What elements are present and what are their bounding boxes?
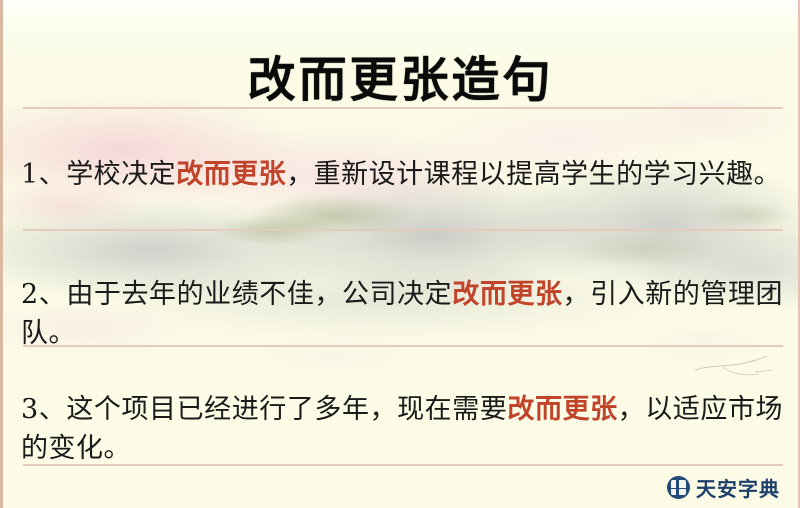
divider-rule-top bbox=[23, 107, 783, 109]
dictionary-example-page: 改而更张造句 1、学校决定改而更张，重新设计课程以提高学生的学习兴趣。 2、由于… bbox=[0, 0, 800, 508]
keyword-highlight: 改而更张 bbox=[452, 279, 562, 310]
sentence-index: 1、 bbox=[21, 159, 66, 190]
example-sentence-2: 2、由于去年的业绩不佳，公司决定改而更张，引入新的管理团队。 bbox=[21, 275, 783, 353]
sentence-text-after: ，重新设计课程以提高学生的学习兴趣。 bbox=[286, 159, 781, 190]
divider-rule-1 bbox=[23, 229, 783, 231]
sentence-index: 2、 bbox=[21, 279, 66, 310]
site-brand[interactable]: 天安字典 bbox=[667, 473, 780, 502]
brand-name-label: 天安字典 bbox=[696, 473, 780, 502]
sentence-text-before: 这个项目已经进行了多年，现在需要 bbox=[66, 394, 507, 425]
example-sentence-1: 1、学校决定改而更张，重新设计课程以提高学生的学习兴趣。 bbox=[21, 155, 783, 194]
brand-logo-icon bbox=[667, 476, 690, 499]
keyword-highlight: 改而更张 bbox=[176, 159, 286, 190]
example-sentence-3: 3、这个项目已经进行了多年，现在需要改而更张，以适应市场的变化。 bbox=[21, 390, 783, 468]
sentence-text-before: 学校决定 bbox=[66, 159, 176, 190]
keyword-highlight: 改而更张 bbox=[507, 394, 617, 425]
page-title: 改而更张造句 bbox=[3, 50, 798, 110]
sentence-text-before: 由于去年的业绩不佳，公司决定 bbox=[66, 279, 452, 310]
sentence-index: 3、 bbox=[21, 394, 66, 425]
